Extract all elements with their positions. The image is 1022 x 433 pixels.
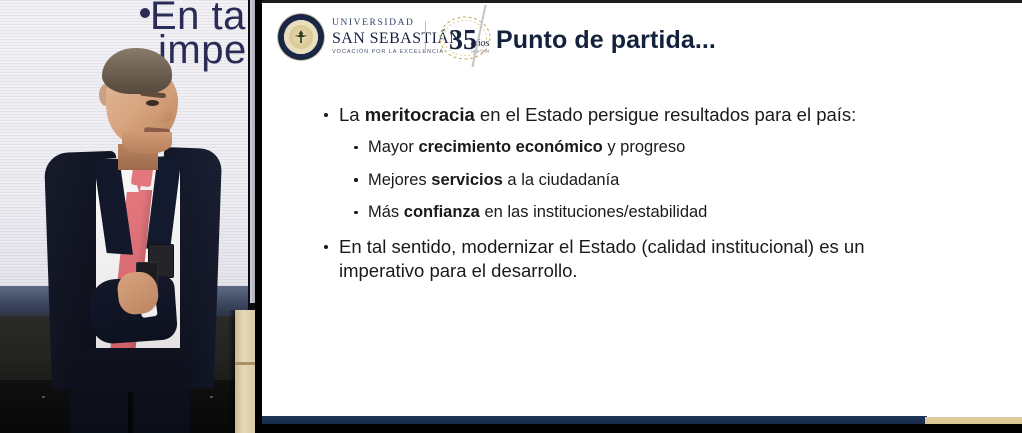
bullet-text-bold: meritocracia [365, 104, 475, 125]
bullet-item-primary-2: En tal sentido, modernizar el Estado (ca… [311, 235, 931, 284]
podium-shadow [228, 310, 235, 433]
slide-body: La meritocracia en el Estado persigue re… [262, 103, 1022, 294]
sub-bullet-text-pre: Mayor [368, 138, 418, 156]
bullet-text-pre: La [339, 104, 365, 125]
bullet-dot-icon [354, 146, 358, 150]
bullet-dot-icon [354, 211, 358, 215]
sub-bullet-text-pre: Más [368, 203, 404, 221]
sub-bullet-text-post: a la ciudadanía [503, 171, 620, 189]
projected-bullet-icon [140, 8, 150, 18]
speaker-nose [156, 106, 173, 123]
bullet-item-sub-3: Más confianza en las instituciones/estab… [342, 202, 1022, 223]
svg-text:años: años [471, 38, 490, 49]
bullet-text-post: en el Estado persigue resultados para el… [475, 104, 857, 125]
speaker-figure [44, 48, 219, 433]
speaker-chin [122, 132, 172, 154]
presentation-slide: 1989 UNIVERSIDAD SAN SEBASTIÁN VOCACIÓN … [262, 3, 1022, 430]
sub-bullet-text-bold: servicios [431, 171, 503, 189]
sub-bullet-text-post: en las instituciones/estabilidad [480, 203, 707, 221]
bullet-item-sub-2: Mejores servicios a la ciudadanía [342, 170, 1022, 191]
seal-year-label: 1989 [278, 50, 324, 55]
video-panel-right-border [255, 0, 259, 433]
sub-bullet-text-pre: Mejores [368, 171, 431, 189]
speaker-eye [146, 100, 159, 106]
speaker-leg-split [128, 392, 133, 433]
bullet2-line-2: imperativo para el desarrollo. [339, 259, 931, 283]
sub-bullet-list: Mayor crecimiento económico y progreso M… [342, 137, 1022, 223]
university-seal-icon: 1989 [278, 14, 324, 60]
bullet-item-primary-1: La meritocracia en el Estado persigue re… [311, 103, 1022, 127]
bullet-dot-icon [324, 113, 328, 117]
conference-video-panel[interactable]: En ta impe [0, 0, 259, 433]
anniversary-badge-icon: 35 años 1989 - 2024 [434, 13, 496, 63]
sub-bullet-text-bold: crecimiento económico [418, 138, 602, 156]
slide-header: 1989 UNIVERSIDAD SAN SEBASTIÁN VOCACIÓN … [262, 3, 1022, 75]
bullet-dot-icon [354, 178, 358, 182]
tree-icon [293, 29, 309, 45]
slide-bottom-border [262, 424, 1022, 433]
speaker-hair [102, 48, 172, 94]
seal-inner-disc [289, 25, 313, 49]
slide-title: Punto de partida... [496, 26, 716, 55]
bullet-item-sub-1: Mayor crecimiento económico y progreso [342, 137, 1022, 158]
sub-bullet-text-post: y progreso [603, 138, 686, 156]
screen-root: En ta impe [0, 0, 1022, 433]
sub-bullet-text-bold: confianza [404, 203, 480, 221]
bullet-dot-icon [324, 245, 328, 249]
wordmark-divider [425, 21, 426, 53]
bullet2-line-1: En tal sentido, modernizar el Estado (ca… [339, 235, 931, 259]
